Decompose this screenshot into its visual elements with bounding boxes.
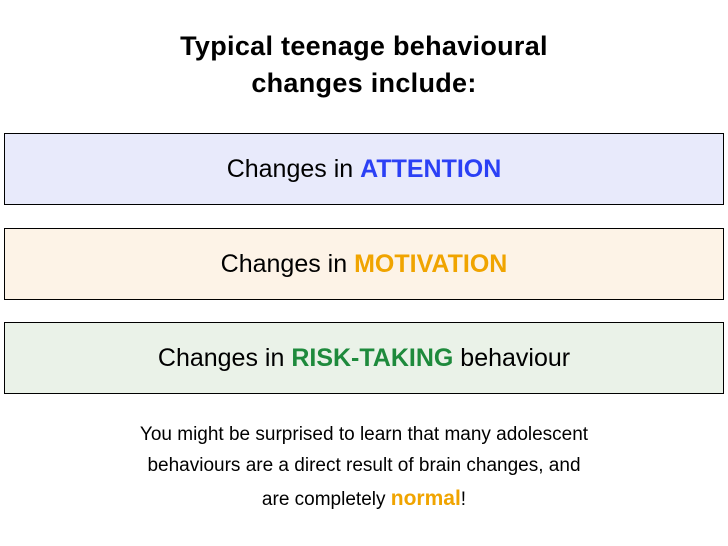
risk-taking-box: Changes in RISK-TAKING behaviour xyxy=(4,322,724,394)
slide-root: Typical teenage behavioural changes incl… xyxy=(0,0,728,546)
footer-keyword-normal: normal xyxy=(391,487,461,510)
risk-taking-suffix: behaviour xyxy=(453,344,570,372)
risk-taking-box-text: Changes in RISK-TAKING behaviour xyxy=(158,343,570,373)
motivation-prefix: Changes in xyxy=(221,250,354,278)
attention-box-text: Changes in ATTENTION xyxy=(227,154,502,184)
motivation-box: Changes in MOTIVATION xyxy=(4,228,724,300)
page-title-line-2: changes include: xyxy=(0,65,728,102)
attention-prefix: Changes in xyxy=(227,155,360,183)
motivation-keyword: MOTIVATION xyxy=(354,250,507,278)
footer-line-2: behaviours are a direct result of brain … xyxy=(60,451,668,482)
footer-line-3: are completely normal! xyxy=(60,482,668,516)
footer-line-1: You might be surprised to learn that man… xyxy=(60,420,668,451)
footer-line-3-suffix: ! xyxy=(461,489,466,510)
risk-taking-keyword: RISK-TAKING xyxy=(291,344,453,372)
attention-box: Changes in ATTENTION xyxy=(4,133,724,205)
motivation-box-text: Changes in MOTIVATION xyxy=(221,249,508,279)
footer-line-3-prefix: are completely xyxy=(262,489,391,510)
attention-keyword: ATTENTION xyxy=(360,155,501,183)
page-title: Typical teenage behavioural changes incl… xyxy=(0,28,728,103)
page-title-line-1: Typical teenage behavioural xyxy=(0,28,728,65)
footer-note: You might be surprised to learn that man… xyxy=(60,420,668,516)
risk-taking-prefix: Changes in xyxy=(158,344,291,372)
